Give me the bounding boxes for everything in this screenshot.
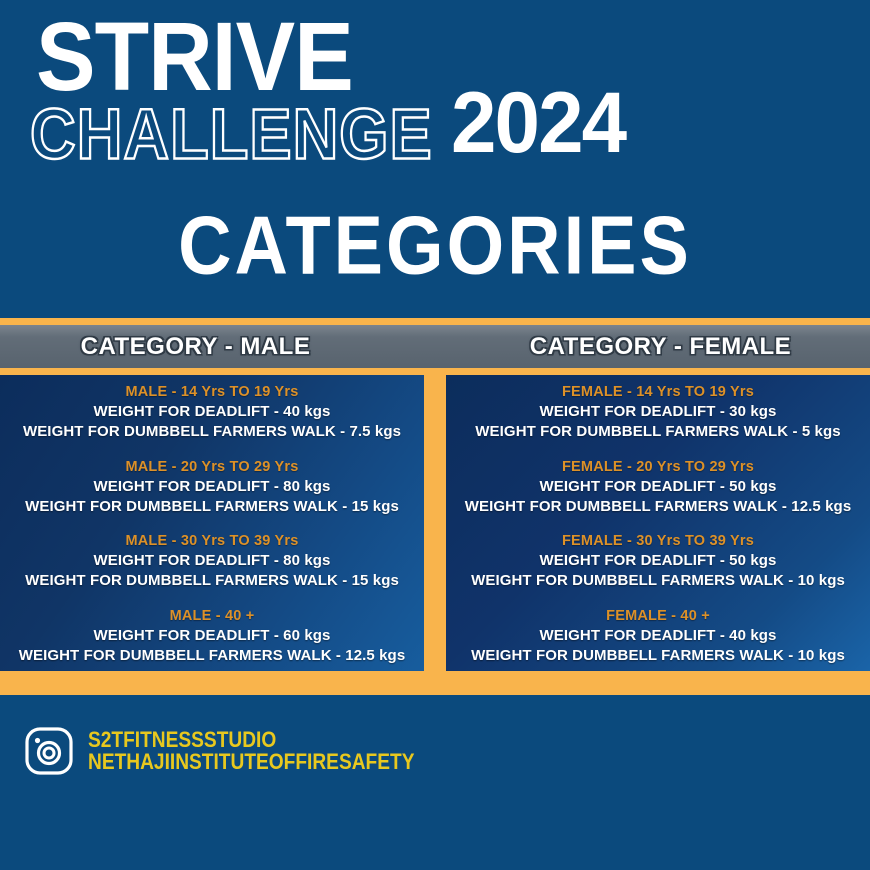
entry-age-title: MALE - 30 Yrs TO 39 Yrs <box>10 533 414 549</box>
entry-deadlift: WEIGHT FOR DEADLIFT - 80 kgs <box>10 551 414 571</box>
poster-canvas: STRIVE CHALLENGE2024 CATEGORIES CATEGORY… <box>0 0 870 870</box>
entry-age-title: FEMALE - 30 Yrs TO 39 Yrs <box>456 533 860 549</box>
panel-male: MALE - 14 Yrs TO 19 Yrs WEIGHT FOR DEADL… <box>0 375 424 671</box>
list-item: FEMALE - 30 Yrs TO 39 Yrs WEIGHT FOR DEA… <box>450 532 866 592</box>
divider-orange-footer <box>0 671 870 695</box>
list-item: MALE - 40 + WEIGHT FOR DEADLIFT - 60 kgs… <box>4 607 420 667</box>
entry-farmers-walk: WEIGHT FOR DUMBBELL FARMERS WALK - 7.5 k… <box>10 422 414 442</box>
entry-farmers-walk: WEIGHT FOR DUMBBELL FARMERS WALK - 10 kg… <box>456 646 860 666</box>
list-item: MALE - 30 Yrs TO 39 Yrs WEIGHT FOR DEADL… <box>4 532 420 592</box>
footer: S2TFITNESSSTUDIO NETHAJIINSTITUTEOFFIRES… <box>0 695 870 870</box>
title-strive: STRIVE <box>36 8 353 105</box>
header-category-female: CATEGORY - FEMALE <box>435 325 870 368</box>
entry-deadlift: WEIGHT FOR DEADLIFT - 40 kgs <box>456 626 860 646</box>
list-item: MALE - 14 Yrs TO 19 Yrs WEIGHT FOR DEADL… <box>4 383 420 443</box>
instagram-handle-secondary: NETHAJIINSTITUTEOFFIRESAFETY <box>88 751 414 773</box>
entry-farmers-walk: WEIGHT FOR DUMBBELL FARMERS WALK - 12.5 … <box>456 497 860 517</box>
title-second-line: CHALLENGE2024 <box>30 98 608 178</box>
entry-deadlift: WEIGHT FOR DEADLIFT - 50 kgs <box>456 477 860 497</box>
entry-farmers-walk: WEIGHT FOR DUMBBELL FARMERS WALK - 12.5 … <box>10 646 414 666</box>
divider-orange-under-header <box>0 368 870 375</box>
category-header-band: CATEGORY - MALE CATEGORY - FEMALE <box>0 325 870 368</box>
list-item: MALE - 20 Yrs TO 29 Yrs WEIGHT FOR DEADL… <box>4 458 420 518</box>
instagram-handle-primary: S2TFITNESSSTUDIO <box>88 729 414 751</box>
panel-female: FEMALE - 14 Yrs TO 19 Yrs WEIGHT FOR DEA… <box>446 375 870 671</box>
social-handles[interactable]: S2TFITNESSSTUDIO NETHAJIINSTITUTEOFFIRES… <box>24 726 463 776</box>
divider-orange-top <box>0 318 870 325</box>
entry-deadlift: WEIGHT FOR DEADLIFT - 80 kgs <box>10 477 414 497</box>
entry-deadlift: WEIGHT FOR DEADLIFT - 40 kgs <box>10 402 414 422</box>
header-category-male: CATEGORY - MALE <box>0 325 435 368</box>
title-year: 2024 <box>451 80 625 166</box>
entry-farmers-walk: WEIGHT FOR DUMBBELL FARMERS WALK - 15 kg… <box>10 571 414 591</box>
entry-deadlift: WEIGHT FOR DEADLIFT - 30 kgs <box>456 402 860 422</box>
entry-farmers-walk: WEIGHT FOR DUMBBELL FARMERS WALK - 5 kgs <box>456 422 860 442</box>
entry-age-title: MALE - 20 Yrs TO 29 Yrs <box>10 459 414 475</box>
categories-panels: MALE - 14 Yrs TO 19 Yrs WEIGHT FOR DEADL… <box>0 375 870 671</box>
entry-age-title: FEMALE - 40 + <box>456 608 860 624</box>
list-item: FEMALE - 14 Yrs TO 19 Yrs WEIGHT FOR DEA… <box>450 383 866 443</box>
entry-age-title: FEMALE - 20 Yrs TO 29 Yrs <box>456 459 860 475</box>
instagram-icon[interactable] <box>24 726 74 776</box>
entry-deadlift: WEIGHT FOR DEADLIFT - 60 kgs <box>10 626 414 646</box>
categories-text: CATEGORIES <box>178 204 692 287</box>
entry-deadlift: WEIGHT FOR DEADLIFT - 50 kgs <box>456 551 860 571</box>
entry-farmers-walk: WEIGHT FOR DUMBBELL FARMERS WALK - 15 kg… <box>10 497 414 517</box>
entry-age-title: MALE - 40 + <box>10 608 414 624</box>
entry-farmers-walk: WEIGHT FOR DUMBBELL FARMERS WALK - 10 kg… <box>456 571 860 591</box>
entry-age-title: MALE - 14 Yrs TO 19 Yrs <box>10 384 414 400</box>
list-item: FEMALE - 40 + WEIGHT FOR DEADLIFT - 40 k… <box>450 607 866 667</box>
title-challenge: CHALLENGE <box>30 100 433 171</box>
panel-divider-orange <box>424 375 446 671</box>
page-title: CATEGORIES <box>0 204 870 278</box>
list-item: FEMALE - 20 Yrs TO 29 Yrs WEIGHT FOR DEA… <box>450 458 866 518</box>
entry-age-title: FEMALE - 14 Yrs TO 19 Yrs <box>456 384 860 400</box>
title-block: STRIVE CHALLENGE2024 CATEGORIES <box>0 0 870 315</box>
handle-list: S2TFITNESSSTUDIO NETHAJIINSTITUTEOFFIRES… <box>88 729 463 774</box>
